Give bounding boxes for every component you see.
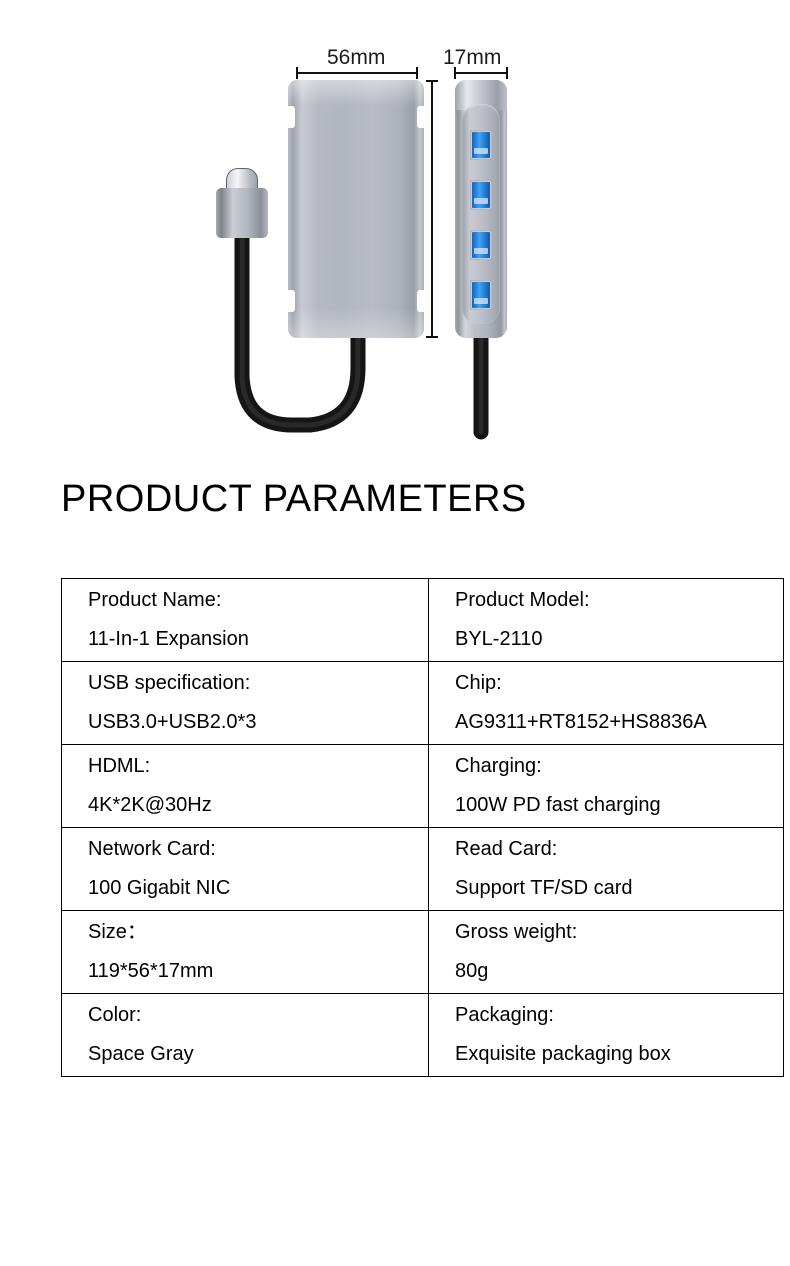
table-row: Size： 119*56*17mm Gross weight: 80g [62, 911, 784, 994]
product-parameters-table: Product Name: 11-In-1 Expansion Product … [61, 578, 784, 1077]
cell-label: Gross weight: [455, 922, 783, 942]
hub-front-body [288, 80, 424, 338]
usb-hub-side-view [455, 80, 507, 338]
table-cell-hdmi: HDML: 4K*2K@30Hz [62, 745, 429, 828]
hub-notch-bottom-right [417, 290, 424, 312]
usb-port-inner-4 [472, 282, 490, 308]
product-illustration: 56mm 17mm 119mm [0, 0, 790, 465]
usb-port-icon-1 [470, 130, 492, 160]
hub-notch-bottom-left [288, 290, 295, 312]
hub-notch-top-left [288, 106, 295, 128]
usb-hub-front-view [288, 80, 424, 338]
usb-port-tongue-2 [474, 198, 488, 204]
table-cell-product-name: Product Name: 11-In-1 Expansion [62, 579, 429, 662]
cell-label: Packaging: [455, 1005, 783, 1025]
table-cell-chip: Chip: AG9311+RT8152+HS8836A [429, 662, 784, 745]
cell-label: Charging: [455, 756, 783, 776]
cell-value: Space Gray [88, 1044, 428, 1064]
usb-port-inner-3 [472, 232, 490, 258]
table-cell-charging: Charging: 100W PD fast charging [429, 745, 784, 828]
usb-port-tongue-3 [474, 248, 488, 254]
usb-port-inner-1 [472, 132, 490, 158]
cell-label: Color: [88, 1005, 428, 1025]
cell-label: USB specification: [88, 673, 428, 693]
hub-front-top-highlight [288, 80, 424, 106]
table-cell-usb-specification: USB specification: USB3.0+USB2.0*3 [62, 662, 429, 745]
dimension-label-depth: 17mm [443, 46, 501, 70]
usb-port-icon-4 [470, 280, 492, 310]
usb-port-icon-3 [470, 230, 492, 260]
cell-value: 119*56*17mm [88, 961, 428, 981]
table-cell-read-card: Read Card: Support TF/SD card [429, 828, 784, 911]
cell-value: 80g [455, 961, 783, 981]
table-cell-gross-weight: Gross weight: 80g [429, 911, 784, 994]
hub-side-port-panel [462, 104, 500, 324]
usb-c-connector-housing [216, 188, 268, 238]
cell-value: Support TF/SD card [455, 878, 783, 898]
cell-value: 100 Gigabit NIC [88, 878, 428, 898]
cell-value: BYL-2110 [455, 629, 783, 649]
cell-value: 4K*2K@30Hz [88, 795, 428, 815]
page-title: PRODUCT PARAMETERS [61, 478, 527, 521]
cell-label: HDML: [88, 756, 428, 776]
cell-label: Product Model: [455, 590, 783, 610]
table-cell-size: Size： 119*56*17mm [62, 911, 429, 994]
cell-label: Chip: [455, 673, 783, 693]
table-row: Network Card: 100 Gigabit NIC Read Card:… [62, 828, 784, 911]
cell-value: USB3.0+USB2.0*3 [88, 712, 428, 732]
table-row: Color: Space Gray Packaging: Exquisite p… [62, 994, 784, 1077]
usb-port-tongue-4 [474, 298, 488, 304]
cell-label: Read Card: [455, 839, 783, 859]
dimension-line-width [296, 72, 418, 74]
usb-c-connector [216, 168, 268, 242]
cell-label: Network Card: [88, 839, 428, 859]
dimension-label-width: 56mm [327, 46, 385, 70]
usb-port-icon-2 [470, 180, 492, 210]
cell-value: Exquisite packaging box [455, 1044, 783, 1064]
hub-notch-top-right [417, 106, 424, 128]
table-row: USB specification: USB3.0+USB2.0*3 Chip:… [62, 662, 784, 745]
table-cell-color: Color: Space Gray [62, 994, 429, 1077]
table-row: HDML: 4K*2K@30Hz Charging: 100W PD fast … [62, 745, 784, 828]
usb-port-tongue-1 [474, 148, 488, 154]
usb-port-inner-2 [472, 182, 490, 208]
table-row: Product Name: 11-In-1 Expansion Product … [62, 579, 784, 662]
table-cell-packaging: Packaging: Exquisite packaging box [429, 994, 784, 1077]
cell-value: 100W PD fast charging [455, 795, 783, 815]
cell-label: Product Name: [88, 590, 428, 610]
parameters-table-body: Product Name: 11-In-1 Expansion Product … [62, 579, 784, 1077]
table-cell-network-card: Network Card: 100 Gigabit NIC [62, 828, 429, 911]
cell-label: Size： [88, 922, 428, 942]
cell-value: 11-In-1 Expansion [88, 629, 428, 649]
dimension-line-height [431, 80, 433, 338]
hub-front-bottom-highlight [288, 308, 424, 338]
cell-value: AG9311+RT8152+HS8836A [455, 712, 783, 732]
table-cell-product-model: Product Model: BYL-2110 [429, 579, 784, 662]
dimension-line-depth [454, 72, 508, 74]
